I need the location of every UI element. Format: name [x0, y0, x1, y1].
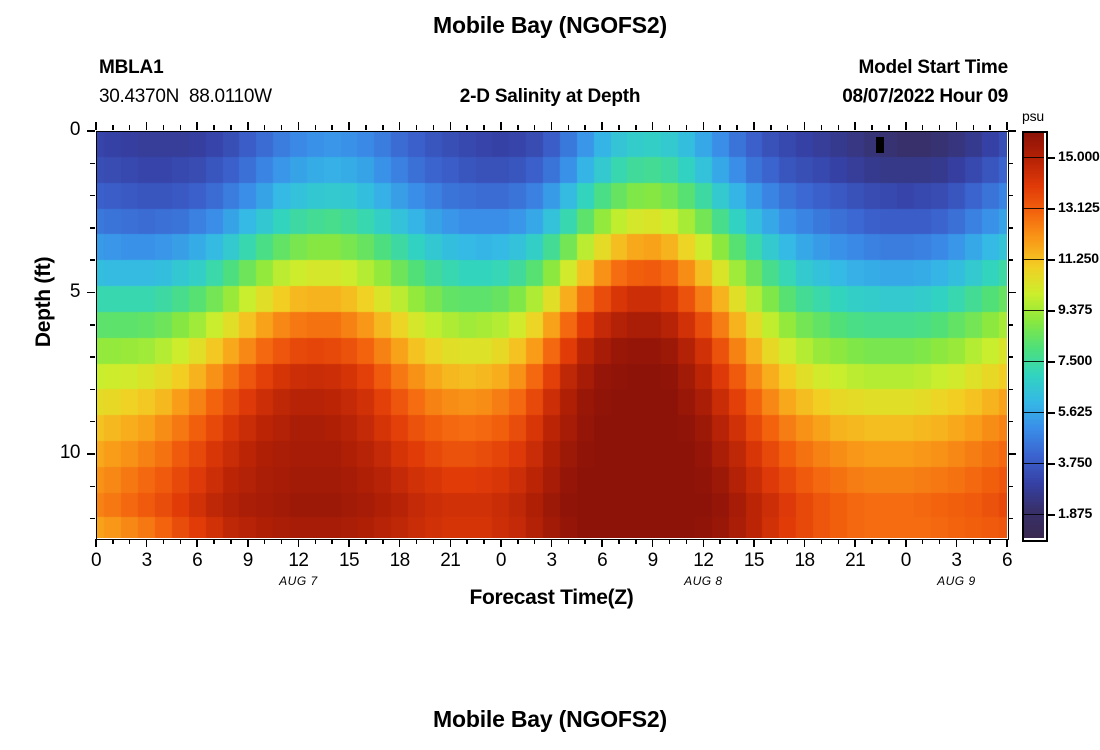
- x-axis-minor-tick: [939, 539, 941, 544]
- y-axis-minor-tick: [90, 486, 95, 488]
- x-axis-minor-tick: [871, 125, 873, 130]
- colorbar: [1022, 131, 1044, 538]
- x-axis-minor-tick: [568, 125, 570, 130]
- x-axis-minor-tick: [973, 539, 975, 544]
- x-axis-minor-tick: [483, 125, 485, 130]
- x-axis-minor-tick: [584, 125, 586, 130]
- colorbar-tick-label: 15.000: [1058, 148, 1100, 164]
- x-axis-tick: [956, 122, 958, 130]
- x-axis-minor-tick: [888, 125, 890, 130]
- y-axis-minor-tick: [1008, 227, 1013, 229]
- colorbar-tick: [1046, 361, 1055, 363]
- x-axis-minor-tick: [281, 125, 283, 130]
- colorbar-separator: [1022, 514, 1044, 515]
- colorbar-separator: [1022, 259, 1044, 260]
- y-axis-minor-tick: [1008, 389, 1013, 391]
- x-axis-minor-tick: [719, 539, 721, 544]
- x-axis-tick: [146, 122, 148, 130]
- x-axis-minor-tick: [483, 539, 485, 544]
- x-axis-tick: [854, 122, 856, 130]
- x-axis-tick: [348, 539, 350, 547]
- x-axis-minor-tick: [618, 125, 620, 130]
- x-axis-tick: [753, 539, 755, 547]
- x-axis-minor-tick: [230, 539, 232, 544]
- x-axis-minor-tick: [635, 539, 637, 544]
- x-axis-minor-tick: [466, 125, 468, 130]
- x-axis-minor-tick: [939, 125, 941, 130]
- x-axis-tick: [956, 539, 958, 547]
- colorbar-separator: [1022, 157, 1044, 158]
- y-axis-title: Depth (ft): [32, 212, 56, 392]
- x-axis-minor-tick: [163, 539, 165, 544]
- x-axis-minor-tick: [517, 125, 519, 130]
- colorbar-tick: [1046, 259, 1055, 261]
- y-axis-tick: [87, 453, 95, 455]
- x-axis-tick: [804, 122, 806, 130]
- x-axis-tick: [247, 122, 249, 130]
- x-axis-minor-tick: [922, 539, 924, 544]
- y-axis-minor-tick: [90, 324, 95, 326]
- x-axis-minor-tick: [281, 539, 283, 544]
- x-axis-minor-tick: [331, 539, 333, 544]
- x-axis-minor-tick: [382, 539, 384, 544]
- salinity-heatmap: [96, 131, 1007, 538]
- x-axis-minor-tick: [770, 539, 772, 544]
- x-axis-minor-tick: [669, 125, 671, 130]
- x-axis-minor-tick: [888, 539, 890, 544]
- x-axis-tick: [450, 539, 452, 547]
- x-axis-minor-tick: [331, 125, 333, 130]
- x-axis-minor-tick: [989, 539, 991, 544]
- x-axis-tick: [601, 122, 603, 130]
- x-axis-minor-tick: [315, 539, 317, 544]
- x-axis-minor-tick: [230, 125, 232, 130]
- x-axis-minor-tick: [922, 125, 924, 130]
- x-axis-tick: [905, 122, 907, 130]
- colorbar-separator: [1022, 361, 1044, 362]
- colorbar-separator: [1022, 463, 1044, 464]
- x-axis-minor-tick: [264, 125, 266, 130]
- x-axis-tick: [247, 539, 249, 547]
- colorbar-tick-label: 7.500: [1058, 352, 1092, 368]
- colorbar-canvas: [1022, 131, 1044, 538]
- colorbar-tick-label: 13.125: [1058, 199, 1100, 215]
- colorbar-separator: [1022, 208, 1044, 209]
- x-axis-tick: [399, 539, 401, 547]
- surface-marker: [876, 137, 884, 153]
- y-axis-minor-tick: [90, 356, 95, 358]
- x-axis-tick-label: 6: [977, 550, 1037, 572]
- x-axis-minor-tick: [770, 125, 772, 130]
- colorbar-tick-label: 1.875: [1058, 505, 1092, 521]
- x-axis-minor-tick: [534, 539, 536, 544]
- y-axis-minor-tick: [90, 195, 95, 197]
- x-axis-tick: [551, 122, 553, 130]
- bottom-title: Mobile Bay (NGOFS2): [0, 706, 1100, 733]
- colorbar-tick-label: 11.250: [1058, 250, 1099, 266]
- x-axis-minor-tick: [365, 125, 367, 130]
- x-axis-minor-tick: [618, 539, 620, 544]
- y-axis-minor-tick: [1008, 421, 1013, 423]
- x-axis-tick: [95, 122, 97, 130]
- y-axis-minor-tick: [1008, 195, 1013, 197]
- x-axis-minor-tick: [989, 125, 991, 130]
- x-axis-minor-tick: [112, 125, 114, 130]
- x-axis-tick: [854, 539, 856, 547]
- heatmap-canvas: [96, 131, 1007, 538]
- x-axis-minor-tick: [838, 125, 840, 130]
- page-title: Mobile Bay (NGOFS2): [0, 12, 1100, 39]
- y-axis-minor-tick: [1008, 518, 1013, 520]
- x-axis-minor-tick: [129, 539, 131, 544]
- x-axis-minor-tick: [163, 125, 165, 130]
- colorbar-unit-label: psu: [1022, 108, 1044, 124]
- colorbar-tick: [1046, 463, 1055, 465]
- x-axis-minor-tick: [871, 539, 873, 544]
- x-axis-tick: [804, 539, 806, 547]
- x-axis-tick: [753, 122, 755, 130]
- x-axis-tick: [652, 122, 654, 130]
- x-axis-minor-tick: [787, 539, 789, 544]
- model-start-time-label: Model Start Time: [858, 57, 1008, 79]
- x-axis-minor-tick: [686, 125, 688, 130]
- x-axis-tick: [551, 539, 553, 547]
- colorbar-separator: [1022, 310, 1044, 311]
- x-axis-tick: [196, 539, 198, 547]
- x-axis-minor-tick: [517, 539, 519, 544]
- x-axis-minor-tick: [213, 539, 215, 544]
- x-axis-title: Forecast Time(Z): [96, 586, 1007, 610]
- x-axis-minor-tick: [112, 539, 114, 544]
- x-axis-tick: [298, 539, 300, 547]
- y-axis-minor-tick: [1008, 163, 1013, 165]
- colorbar-tick: [1046, 208, 1055, 210]
- y-axis-minor-tick: [90, 518, 95, 520]
- x-axis-tick: [298, 122, 300, 130]
- x-axis-tick: [146, 539, 148, 547]
- x-axis-minor-tick: [821, 539, 823, 544]
- colorbar-tick-label: 5.625: [1058, 403, 1092, 419]
- x-axis-minor-tick: [315, 125, 317, 130]
- y-axis-tick-label: 0: [20, 119, 80, 141]
- x-axis-minor-tick: [635, 125, 637, 130]
- x-axis-tick: [1006, 539, 1008, 547]
- x-axis-tick: [348, 122, 350, 130]
- x-axis-minor-tick: [213, 125, 215, 130]
- x-axis-tick: [450, 122, 452, 130]
- x-axis-minor-tick: [686, 539, 688, 544]
- y-axis-tick-label: 10: [20, 442, 80, 464]
- x-axis-minor-tick: [416, 125, 418, 130]
- x-axis-minor-tick: [534, 125, 536, 130]
- x-axis-minor-tick: [736, 125, 738, 130]
- x-axis-tick: [601, 539, 603, 547]
- x-axis-minor-tick: [669, 539, 671, 544]
- x-axis-minor-tick: [821, 125, 823, 130]
- x-axis-tick: [196, 122, 198, 130]
- y-axis-tick: [1008, 292, 1016, 294]
- y-axis-minor-tick: [90, 259, 95, 261]
- x-axis-minor-tick: [129, 125, 131, 130]
- x-axis-minor-tick: [264, 539, 266, 544]
- x-axis-tick: [905, 539, 907, 547]
- x-axis-minor-tick: [180, 539, 182, 544]
- station-id: MBLA1: [99, 57, 163, 79]
- x-axis-minor-tick: [584, 539, 586, 544]
- y-axis-minor-tick: [1008, 324, 1013, 326]
- y-axis-minor-tick: [1008, 259, 1013, 261]
- y-axis-tick: [1008, 453, 1016, 455]
- y-axis-tick: [87, 130, 95, 132]
- y-axis-minor-tick: [90, 421, 95, 423]
- x-axis-minor-tick: [736, 539, 738, 544]
- x-axis-tick: [652, 539, 654, 547]
- y-axis-minor-tick: [90, 227, 95, 229]
- x-axis-tick: [399, 122, 401, 130]
- y-axis-minor-tick: [1008, 486, 1013, 488]
- colorbar-tick: [1046, 514, 1055, 516]
- x-axis-minor-tick: [787, 125, 789, 130]
- x-axis-minor-tick: [180, 125, 182, 130]
- colorbar-tick-label: 3.750: [1058, 454, 1092, 470]
- x-axis-tick: [500, 539, 502, 547]
- y-axis-tick: [1008, 130, 1016, 132]
- x-axis-minor-tick: [838, 539, 840, 544]
- x-axis-tick: [500, 122, 502, 130]
- x-axis-minor-tick: [568, 539, 570, 544]
- model-start-time-value: 08/07/2022 Hour 09: [842, 86, 1008, 108]
- x-axis-minor-tick: [973, 125, 975, 130]
- x-axis-minor-tick: [365, 539, 367, 544]
- y-axis-minor-tick: [1008, 356, 1013, 358]
- x-axis-tick: [1006, 122, 1008, 130]
- colorbar-tick-label: 9.375: [1058, 301, 1092, 317]
- x-axis-tick: [703, 122, 705, 130]
- colorbar-tick: [1046, 157, 1055, 159]
- y-axis-tick: [87, 292, 95, 294]
- colorbar-tick: [1046, 412, 1055, 414]
- x-axis-minor-tick: [719, 125, 721, 130]
- y-axis-minor-tick: [90, 163, 95, 165]
- x-axis-tick: [95, 539, 97, 547]
- y-axis-minor-tick: [90, 389, 95, 391]
- colorbar-tick: [1046, 310, 1055, 312]
- x-axis-minor-tick: [382, 125, 384, 130]
- x-axis-minor-tick: [416, 539, 418, 544]
- x-axis-minor-tick: [466, 539, 468, 544]
- colorbar-separator: [1022, 412, 1044, 413]
- x-axis-minor-tick: [433, 125, 435, 130]
- x-axis-minor-tick: [433, 539, 435, 544]
- x-axis-tick: [703, 539, 705, 547]
